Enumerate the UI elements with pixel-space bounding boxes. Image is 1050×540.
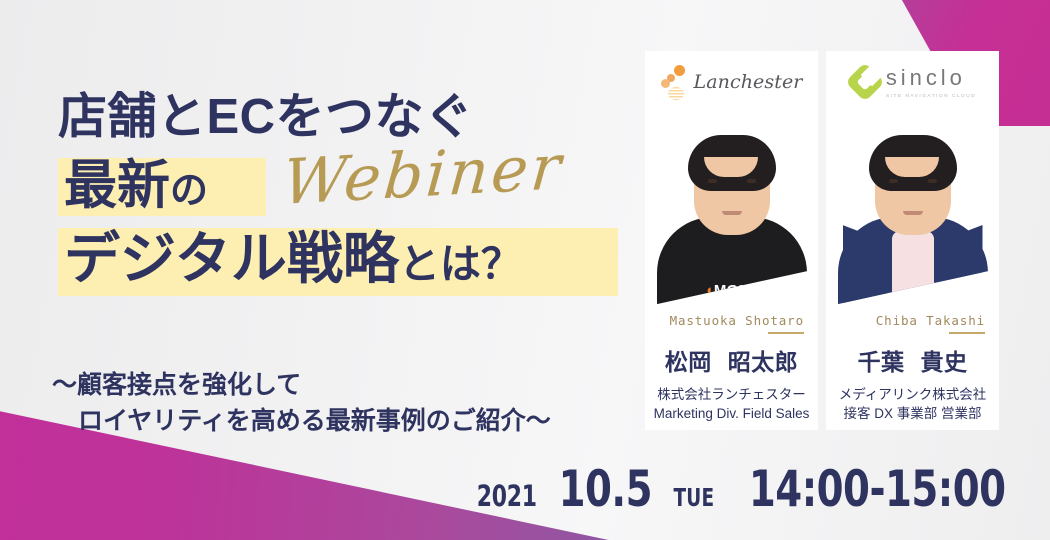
name-divider — [949, 332, 985, 334]
shirt-logo-mgre: ◖MGRe — [705, 282, 759, 299]
speaker-given-name: 昭太郎 — [728, 349, 798, 375]
headline-line-3-tail: とは？ — [399, 241, 522, 287]
speaker-family-name: 松岡 — [665, 349, 712, 375]
speaker-card-matsuoka: Lanchester ◖MGRe Mastuok — [645, 51, 818, 430]
speaker-jp-name: 千葉貴史 — [832, 343, 993, 377]
webinar-banner: 店舗とECをつなぐ 最新の Webiner デジタル戦略とは？ 〜顧客接点を強化… — [0, 0, 1050, 540]
sinclo-tagline: SITE NAVIGATION CLOUD — [886, 92, 976, 97]
card-logo-area: sinclo SITE NAVIGATION CLOUD — [826, 51, 999, 113]
script-webiner-text: Webiner — [280, 130, 566, 219]
event-datetime: 2021 10.5 TUE 14:00-15:00 — [471, 460, 1026, 518]
lanchester-logo: Lanchester — [661, 65, 803, 99]
name-divider — [768, 332, 804, 334]
speaker-jp-name: 松岡昭太郎 — [651, 343, 812, 377]
event-year: 2021 — [476, 479, 536, 513]
portrait-hair — [688, 135, 776, 191]
speaker-roman-name: Mastuoka Shotaro — [651, 313, 812, 328]
headline-line-3: デジタル戦略とは？ — [64, 224, 522, 294]
headline-line-1: 店舗とECをつなぐ — [58, 92, 658, 144]
headline-row-2: 最新の Webiner — [58, 154, 658, 220]
lanchester-mark-icon — [661, 65, 687, 99]
speaker-photo-chiba — [834, 113, 991, 305]
subheadline: 〜顧客接点を強化して ロイヤリティを高める最新事例のご紹介〜 — [52, 368, 551, 439]
speaker-roman-name: Chiba Takashi — [832, 313, 993, 328]
sinclo-logo: sinclo SITE NAVIGATION CLOUD — [851, 67, 974, 98]
subheadline-line-1: 〜顧客接点を強化して — [52, 368, 551, 404]
sinclo-mark-icon — [851, 68, 879, 96]
speaker-company: メディアリンク株式会社 — [832, 385, 993, 405]
speaker-family-name: 千葉 — [858, 349, 905, 375]
lanchester-wordmark: Lanchester — [694, 71, 803, 93]
event-day: 10.5 — [559, 460, 652, 518]
event-day-of-week: TUE — [673, 483, 714, 512]
subheadline-line-2: ロイヤリティを高める最新事例のご紹介〜 — [52, 404, 551, 440]
speaker-info-matsuoka: Mastuoka Shotaro 松岡昭太郎 株式会社ランチェスター Marke… — [645, 305, 818, 424]
headline-line-2-suffix: の — [170, 170, 208, 212]
speaker-cards: Lanchester ◖MGRe Mastuok — [645, 51, 999, 430]
speaker-dept: Marketing Div. Field Sales — [651, 404, 812, 424]
speaker-given-name: 貴史 — [921, 349, 968, 375]
headline-line-2: 最新の — [64, 154, 208, 218]
portrait-hair — [869, 135, 957, 191]
headline-block: 店舗とECをつなぐ 最新の Webiner デジタル戦略とは？ — [58, 92, 658, 298]
headline-line-2-main: 最新 — [64, 156, 170, 215]
speaker-dept: 接客 DX 事業部 営業部 — [832, 404, 993, 424]
headline-line-3-main: デジタル戦略 — [64, 227, 399, 290]
speaker-company: 株式会社ランチェスター — [651, 385, 812, 405]
speaker-card-chiba: sinclo SITE NAVIGATION CLOUD — [826, 51, 999, 430]
speaker-photo-matsuoka: ◖MGRe — [653, 113, 810, 305]
headline-row-3: デジタル戦略とは？ — [58, 226, 658, 298]
event-time-range: 14:00-15:00 — [748, 460, 1005, 518]
sinclo-wordmark: sinclo — [886, 67, 966, 89]
speaker-info-chiba: Chiba Takashi 千葉貴史 メディアリンク株式会社 接客 DX 事業部… — [826, 305, 999, 424]
card-logo-area: Lanchester — [645, 51, 818, 113]
